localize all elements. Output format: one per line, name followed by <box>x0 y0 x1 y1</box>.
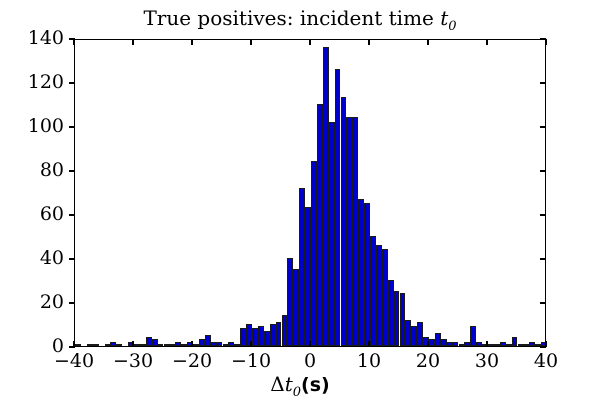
y-axis-tick <box>69 38 75 39</box>
y-axis-tick <box>69 346 75 347</box>
histogram-bar <box>75 344 81 346</box>
y-axis-tick <box>69 82 75 83</box>
x-axis-tick-top <box>368 39 369 45</box>
x-axis-label: Δt0(s) <box>0 372 600 400</box>
y-axis-tick-right <box>540 302 546 303</box>
plot-area <box>74 39 546 347</box>
histogram-figure: True positives: incident time t0 −40−30−… <box>0 0 600 400</box>
x-axis-tick <box>486 341 487 347</box>
x-axis-tick <box>250 341 251 347</box>
x-axis-tick <box>191 341 192 347</box>
x-axis-tick-top <box>309 39 310 45</box>
y-axis-tick <box>69 126 75 127</box>
y-tick-label: 120 <box>6 71 64 93</box>
x-axis-label-unit: (s) <box>301 374 330 396</box>
y-tick-label: 20 <box>6 291 64 313</box>
x-axis-tick <box>309 341 310 347</box>
x-axis-tick-top <box>545 39 546 45</box>
y-axis-tick <box>69 170 75 171</box>
y-tick-label: 0 <box>6 335 64 357</box>
y-axis-tick-right <box>540 170 546 171</box>
histogram-bar <box>93 344 99 346</box>
y-tick-label: 40 <box>6 247 64 269</box>
histogram-bars-layer <box>75 40 545 346</box>
y-axis-tick-right <box>540 346 546 347</box>
y-axis-tick <box>69 258 75 259</box>
y-axis-tick-right <box>540 82 546 83</box>
x-axis-tick <box>132 341 133 347</box>
x-tick-label: 40 <box>511 350 581 372</box>
y-tick-label: 60 <box>6 203 64 225</box>
y-axis-tick-right <box>540 38 546 39</box>
chart-title-text: True positives: incident time <box>143 6 440 30</box>
x-axis-tick-top <box>191 39 192 45</box>
x-axis-label-variable: t <box>285 372 293 396</box>
y-tick-label: 100 <box>6 115 64 137</box>
x-axis-tick <box>427 341 428 347</box>
y-axis-tick <box>69 214 75 215</box>
y-axis-tick-right <box>540 126 546 127</box>
x-axis-label-subscript: 0 <box>293 385 301 400</box>
x-axis-tick-top <box>427 39 428 45</box>
y-axis-tick <box>69 302 75 303</box>
y-axis-tick-right <box>540 214 546 215</box>
histogram-bar <box>116 344 122 346</box>
y-tick-label: 80 <box>6 159 64 181</box>
x-axis-tick-top <box>73 39 74 45</box>
x-axis-tick-top <box>486 39 487 45</box>
y-tick-label: 140 <box>6 27 64 49</box>
x-axis-tick-top <box>250 39 251 45</box>
chart-title: True positives: incident time t0 <box>0 6 600 34</box>
x-axis-label-delta: Δ <box>270 372 284 396</box>
y-axis-tick-right <box>540 258 546 259</box>
x-axis-tick-top <box>132 39 133 45</box>
x-axis-tick <box>368 341 369 347</box>
chart-title-subscript: 0 <box>448 19 456 34</box>
